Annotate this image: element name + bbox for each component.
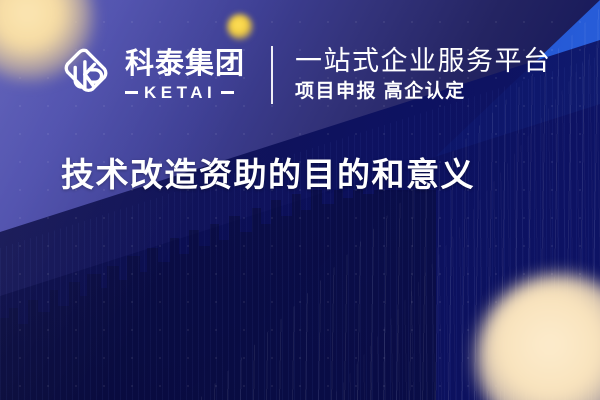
page-title: 技术改造资助的目的和意义 <box>61 155 475 195</box>
promo-banner: 科泰集团 KETAI 一站式企业服务平台 项目申报 高企认定 技术改造资助的目的… <box>0 0 600 400</box>
tagline-block: 一站式企业服务平台 项目申报 高企认定 <box>295 46 552 104</box>
ketai-diamond-kd-logo-icon <box>58 47 114 103</box>
brand-name-cn: 科泰集团 <box>125 49 245 79</box>
brand-name-en-row: KETAI <box>125 84 245 101</box>
wordmark-dash-right <box>221 91 234 94</box>
brand-header: 科泰集团 KETAI 一站式企业服务平台 项目申报 高企认定 <box>58 38 552 112</box>
brand-name-en: KETAI <box>144 84 216 101</box>
tagline-sub: 项目申报 高企认定 <box>295 81 552 104</box>
wordmark-dash-left <box>125 91 138 94</box>
banner-content: 科泰集团 KETAI 一站式企业服务平台 项目申报 高企认定 技术改造资助的目的… <box>0 0 600 400</box>
vertical-divider <box>271 46 273 104</box>
brand-wordmark: 科泰集团 KETAI <box>125 49 245 100</box>
tagline-main: 一站式企业服务平台 <box>295 46 552 76</box>
